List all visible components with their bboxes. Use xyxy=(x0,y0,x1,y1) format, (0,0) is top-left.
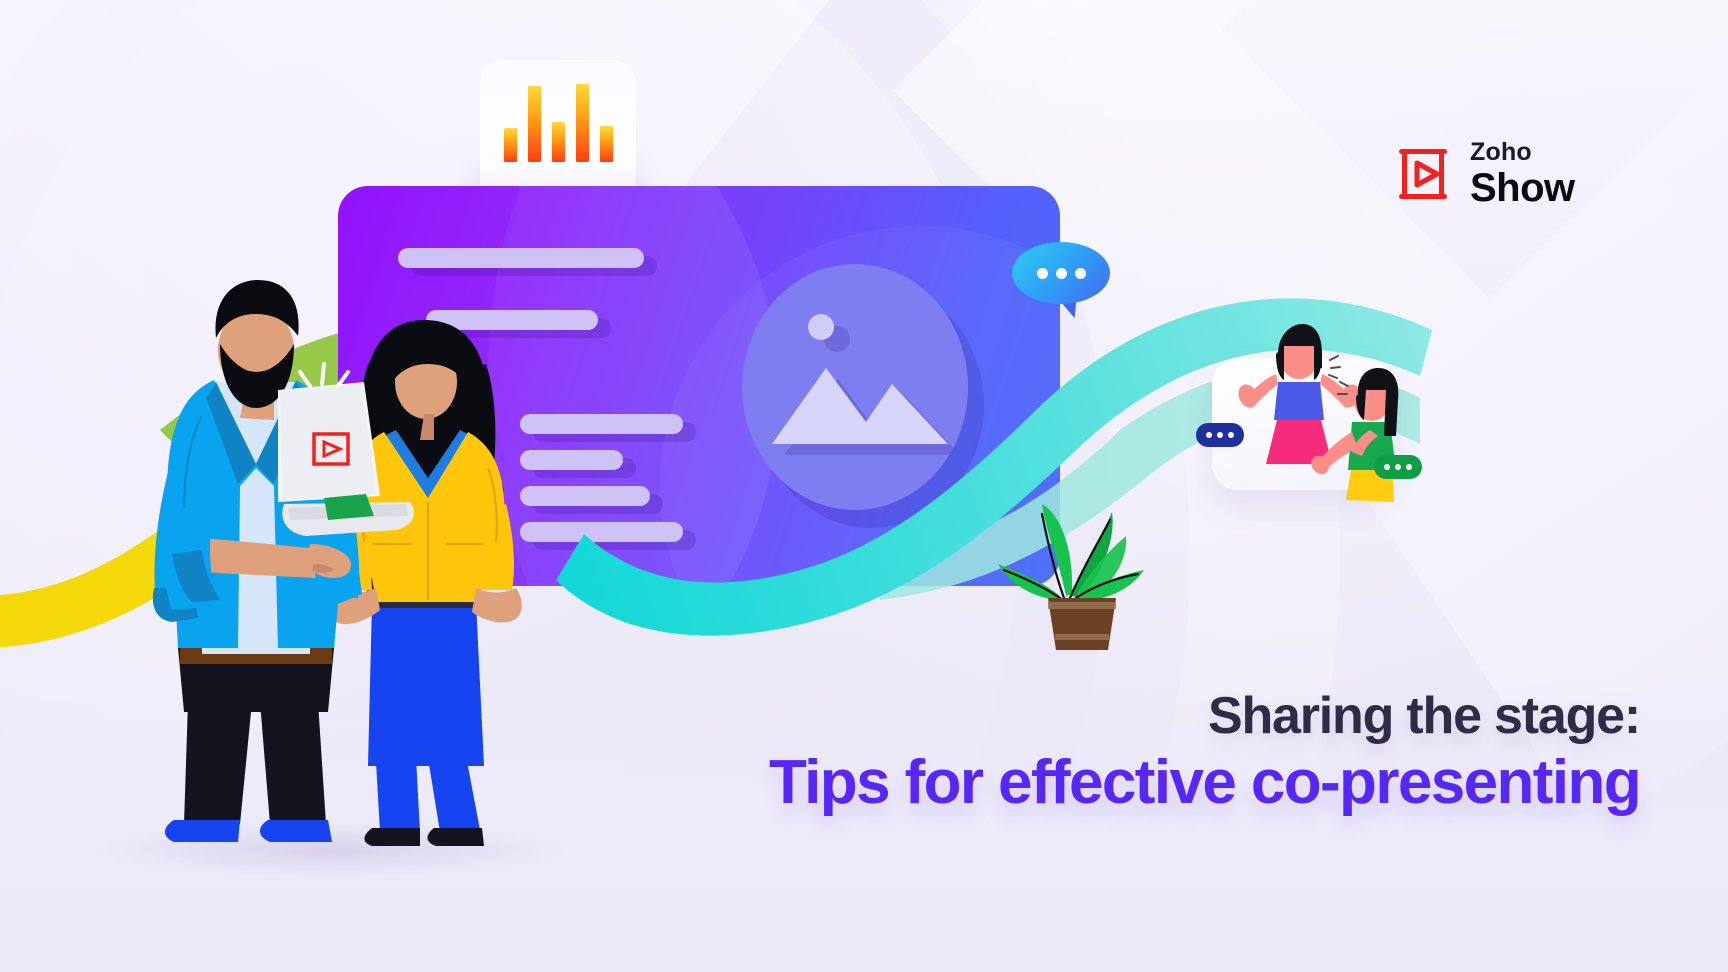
laptop-sparkle-icon xyxy=(300,364,348,386)
logo-zoho-text: Zoho xyxy=(1470,140,1575,165)
chat-pill-green xyxy=(1374,455,1422,479)
potted-plant xyxy=(986,492,1146,652)
pill-dot xyxy=(1217,432,1223,438)
plant-pot xyxy=(1048,598,1116,650)
pill-dot xyxy=(1228,432,1234,438)
chat-pill-blue xyxy=(1196,423,1244,447)
pill-dot xyxy=(1395,464,1401,470)
banner-canvas: Zoho Show Sharing the stage: Tips for ef… xyxy=(0,0,1728,972)
zoho-show-play-frame-icon xyxy=(1392,143,1454,205)
headline-block: Sharing the stage: Tips for effective co… xyxy=(0,688,1640,817)
headline-line-2: Tips for effective co-presenting xyxy=(0,750,1640,817)
plant-leaves xyxy=(998,504,1144,600)
zoho-show-logo[interactable]: Zoho Show xyxy=(1392,140,1575,208)
headline-line-1: Sharing the stage: xyxy=(0,688,1640,744)
pill-dot xyxy=(1384,464,1390,470)
pill-dot xyxy=(1206,432,1212,438)
logo-show-text: Show xyxy=(1470,168,1575,208)
pill-dot xyxy=(1406,464,1412,470)
conversation-illustration xyxy=(1180,312,1440,522)
